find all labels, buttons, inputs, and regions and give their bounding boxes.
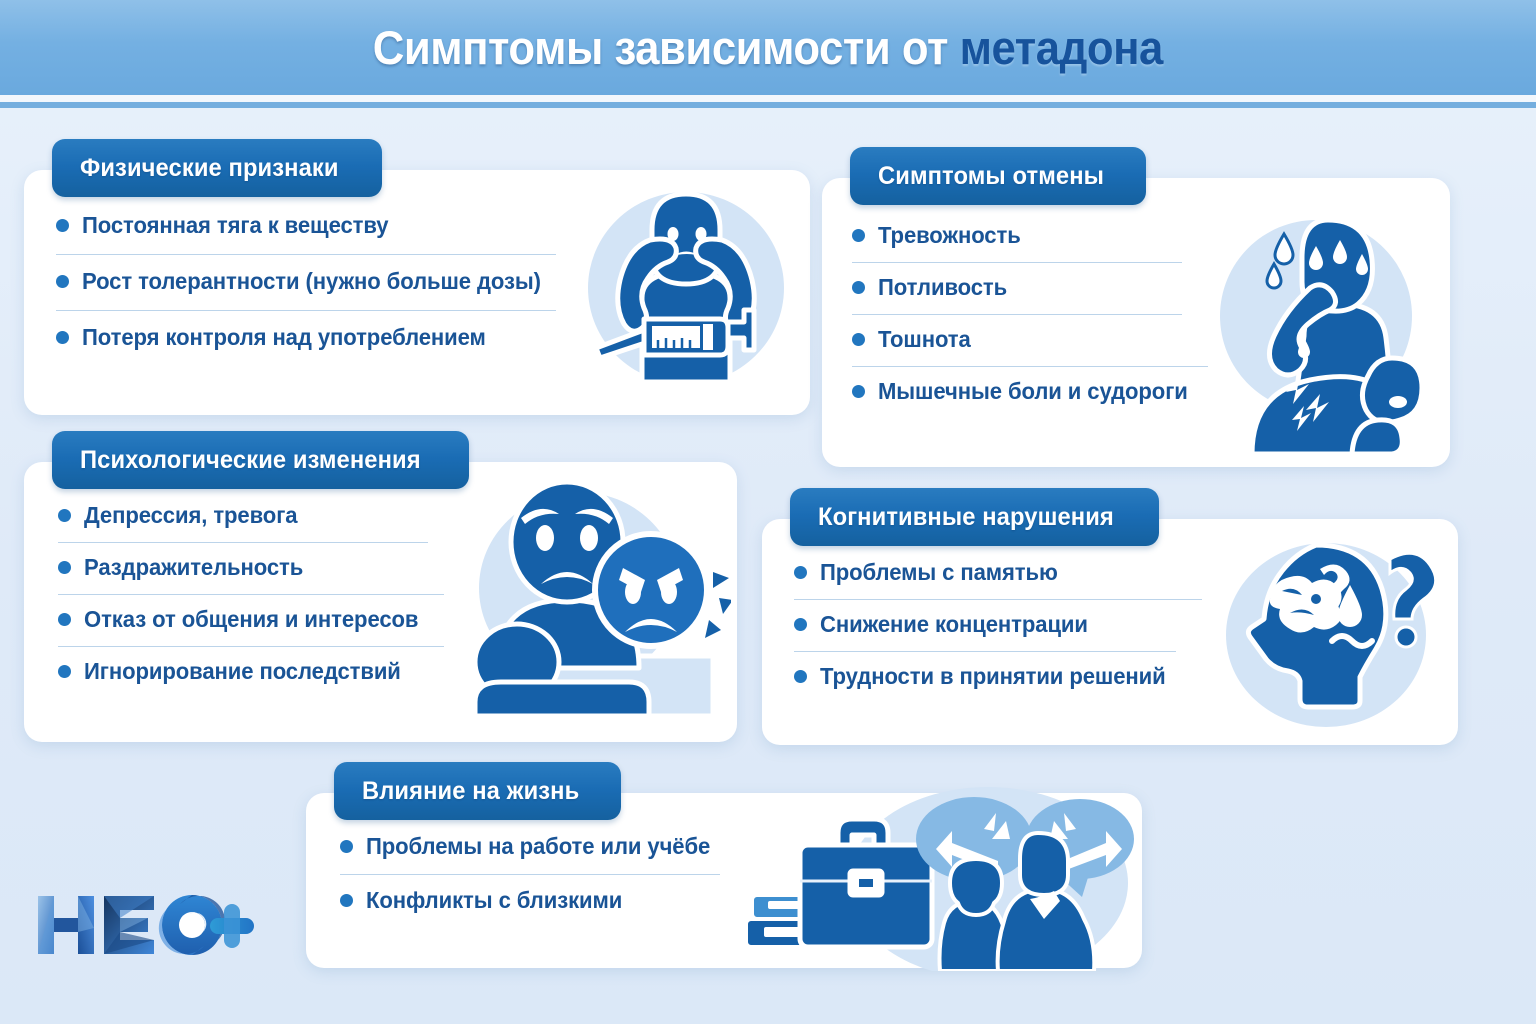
card-tab-psychological-changes: Психологические изменения (52, 431, 469, 489)
page-title: Симптомы зависимости от метадона (373, 20, 1163, 75)
bullet-dot-icon (58, 509, 71, 522)
list-item: Рост толерантности (нужно больше дозы) (56, 268, 560, 295)
infographic-poster: Симптомы зависимости от метадона Физичес… (0, 0, 1536, 1024)
list-divider (852, 262, 1182, 263)
bullet-dot-icon (58, 561, 71, 574)
list-divider (56, 310, 556, 311)
list-item-label: Раздражительность (84, 554, 303, 581)
person-sweating-cramps-icon (1206, 206, 1446, 456)
card-psychological-changes: Психологические изменения Депрессия, тре… (24, 462, 737, 742)
list-item: Проблемы на работе или учёбе (340, 833, 725, 860)
card-tab-life-impact: Влияние на жизнь (334, 762, 621, 820)
bullet-dot-icon (56, 275, 69, 288)
bullet-dot-icon (852, 385, 865, 398)
bullet-dot-icon (794, 618, 807, 631)
bullet-dot-icon (794, 670, 807, 683)
card-cognitive-impairment: Когнитивные нарушения Проблемы с памятью… (762, 519, 1458, 745)
bullet-list-life: Проблемы на работе или учёбе Конфликты с… (340, 833, 725, 914)
page-title-accent: метадона (960, 21, 1163, 74)
card-tab-label: Симптомы отмены (878, 162, 1104, 191)
list-item-label: Потеря контроля над употреблением (82, 324, 486, 351)
bullet-list-psych: Депрессия, тревога Раздражительность Отк… (58, 502, 444, 685)
bullet-list-cognitive: Проблемы с памятью Снижение концентрации… (794, 559, 1202, 690)
list-item: Потливость (852, 274, 1208, 301)
bullet-dot-icon (852, 229, 865, 242)
list-item-label: Конфликты с близкими (366, 887, 622, 914)
bullet-dot-icon (58, 665, 71, 678)
head-brain-question-icon (1220, 537, 1440, 737)
person-headache-syringe-icon (570, 180, 802, 390)
card-withdrawal-symptoms: Симптомы отмены Тревожность Потливость Т… (822, 178, 1450, 467)
list-item-label: Проблемы с памятью (820, 559, 1058, 586)
list-item: Постоянная тяга к веществу (56, 212, 560, 239)
sad-angry-faces-icon (451, 480, 731, 730)
list-item-label: Тошнота (878, 326, 971, 353)
card-tab-label: Влияние на жизнь (362, 777, 579, 806)
bullet-dot-icon (852, 333, 865, 346)
list-item-label: Мышечные боли и судороги (878, 378, 1188, 405)
list-item: Конфликты с близкими (340, 887, 725, 914)
poster-header: Симптомы зависимости от метадона (0, 0, 1536, 95)
list-divider (852, 314, 1182, 315)
list-item-label: Постоянная тяга к веществу (82, 212, 388, 239)
bullet-list-physical: Постоянная тяга к веществу Рост толерант… (56, 212, 560, 351)
briefcase-books-people-conflict-icon (738, 775, 1138, 971)
list-item: Снижение концентрации (794, 611, 1202, 638)
list-item-label: Депрессия, тревога (84, 502, 297, 529)
list-item-label: Снижение концентрации (820, 611, 1088, 638)
list-divider (58, 594, 444, 595)
card-tab-label: Психологические изменения (80, 446, 421, 475)
page-title-main: Симптомы зависимости от (373, 21, 960, 74)
bullet-dot-icon (340, 840, 353, 853)
card-tab-label: Физические признаки (80, 154, 339, 183)
card-tab-physical-signs: Физические признаки (52, 139, 382, 197)
list-item: Раздражительность (58, 554, 444, 581)
list-divider (794, 651, 1176, 652)
list-item: Депрессия, тревога (58, 502, 444, 529)
logo-letter-e (104, 896, 154, 954)
list-divider (852, 366, 1208, 367)
bullet-dot-icon (340, 894, 353, 907)
list-item: Трудности в принятии решений (794, 663, 1202, 690)
list-divider (340, 874, 720, 875)
bullet-dot-icon (56, 219, 69, 232)
card-life-impact: Влияние на жизнь Проблемы на работе или … (306, 793, 1142, 968)
header-divider-white (0, 95, 1536, 102)
list-item-label: Игнорирование последствий (84, 658, 401, 685)
list-divider (56, 254, 556, 255)
card-tab-label: Когнитивные нарушения (818, 503, 1114, 532)
card-tab-cognitive-impairment: Когнитивные нарушения (790, 488, 1159, 546)
bullet-dot-icon (58, 613, 71, 626)
card-physical-signs: Физические признаки Постоянная тяга к ве… (24, 170, 810, 415)
list-item: Игнорирование последствий (58, 658, 444, 685)
list-item: Тошнота (852, 326, 1208, 353)
list-item-label: Отказ от общения и интересов (84, 606, 418, 633)
bullet-dot-icon (794, 566, 807, 579)
list-item: Отказ от общения и интересов (58, 606, 444, 633)
header-divider-blue (0, 102, 1536, 108)
logo-letter-n (38, 896, 94, 954)
card-tab-withdrawal-symptoms: Симптомы отмены (850, 147, 1146, 205)
list-divider (794, 599, 1202, 600)
logo-neo-plus (34, 888, 256, 962)
list-item: Мышечные боли и судороги (852, 378, 1208, 405)
list-item-label: Потливость (878, 274, 1007, 301)
list-item: Потеря контроля над употреблением (56, 324, 560, 351)
list-item: Тревожность (852, 222, 1208, 249)
bullet-list-withdrawal: Тревожность Потливость Тошнота Мышечные … (852, 222, 1208, 405)
list-item-label: Трудности в принятии решений (820, 663, 1166, 690)
bullet-dot-icon (56, 331, 69, 344)
list-item-label: Тревожность (878, 222, 1021, 249)
bullet-dot-icon (852, 281, 865, 294)
list-item: Проблемы с памятью (794, 559, 1202, 586)
list-divider (58, 646, 444, 647)
list-divider (58, 542, 428, 543)
list-item-label: Рост толерантности (нужно больше дозы) (82, 268, 541, 295)
list-item-label: Проблемы на работе или учёбе (366, 833, 710, 860)
